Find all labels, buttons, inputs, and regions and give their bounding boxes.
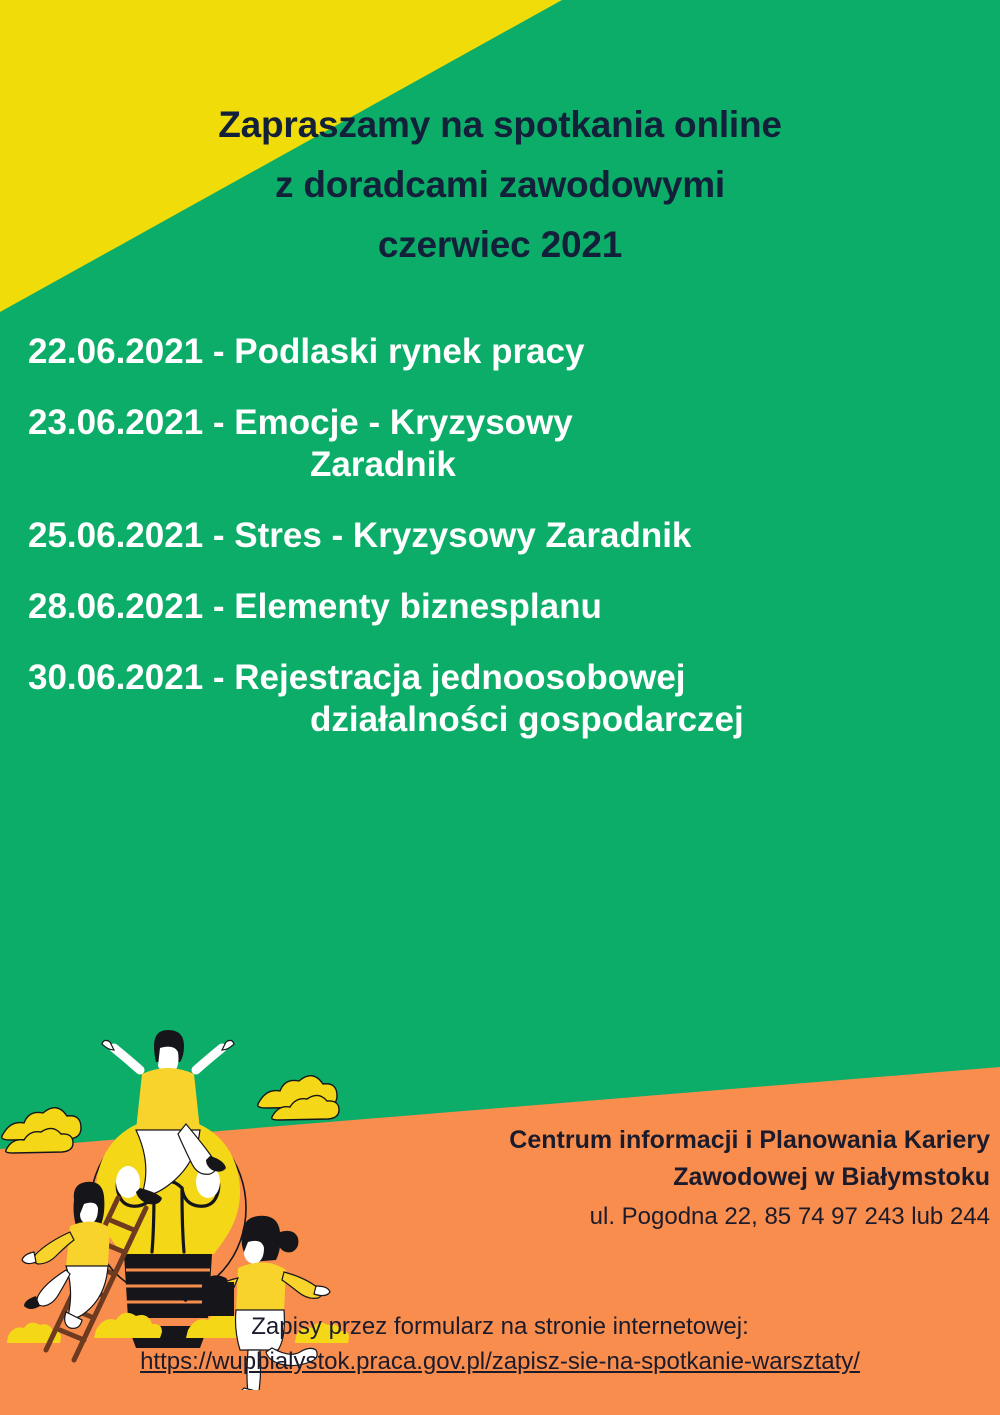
schedule-item-line1: 23.06.2021 - Emocje - Kryzysowy: [28, 402, 972, 443]
footer-contact-block: Centrum informacji i Planowania Kariery …: [330, 1122, 990, 1235]
woman-shirt: [66, 1221, 110, 1266]
schedule-item-line1: 28.06.2021 - Elementy biznesplanu: [28, 586, 972, 627]
cloud-icon: [258, 1076, 339, 1120]
title-line-2: z doradcami zawodowymi: [0, 155, 1000, 215]
poster-title: Zapraszamy na spotkania online z doradca…: [0, 95, 1000, 275]
organization-name-line1: Centrum informacji i Planowania Kariery: [330, 1122, 990, 1159]
person-shirt: [136, 1068, 200, 1130]
organization-address: ul. Pogodna 22, 85 74 97 243 lub 244: [330, 1199, 990, 1235]
woman-shirt-right: [236, 1262, 286, 1312]
schedule-item: 23.06.2021 - Emocje - Kryzysowy Zaradnik: [28, 402, 972, 485]
schedule-item-line1: 30.06.2021 - Rejestracja jednoosobowej: [28, 657, 972, 698]
title-line-3: czerwiec 2021: [0, 215, 1000, 275]
schedule-item: 22.06.2021 - Podlaski rynek pracy: [28, 331, 972, 372]
schedule-item-line1: 25.06.2021 - Stres - Kryzysowy Zaradnik: [28, 515, 972, 556]
organization-name-line2: Zawodowej w Białymstoku: [330, 1159, 990, 1196]
poster-canvas: Zapraszamy na spotkania online z doradca…: [0, 0, 1000, 1415]
title-line-1: Zapraszamy na spotkania online: [0, 95, 1000, 155]
schedule-item-line2: Zaradnik: [28, 444, 972, 485]
signup-url-link[interactable]: https://wupbialystok.praca.gov.pl/zapisz…: [140, 1345, 860, 1380]
schedule-item-line2: działalności gospodarczej: [28, 699, 972, 740]
woman-ponytail: [278, 1231, 298, 1252]
schedule-item-line1: 22.06.2021 - Podlaski rynek pracy: [28, 331, 972, 372]
signup-instruction: Zapisy przez formularz na stronie intern…: [0, 1310, 1000, 1345]
cloud-icon: [2, 1108, 81, 1153]
schedule-item: 25.06.2021 - Stres - Kryzysowy Zaradnik: [28, 515, 972, 556]
signup-block: Zapisy przez formularz na stronie intern…: [0, 1310, 1000, 1380]
schedule-item: 30.06.2021 - Rejestracja jednoosobowej d…: [28, 657, 972, 740]
schedule-item: 28.06.2021 - Elementy biznesplanu: [28, 586, 972, 627]
schedule-list: 22.06.2021 - Podlaski rynek pracy 23.06.…: [28, 331, 972, 770]
